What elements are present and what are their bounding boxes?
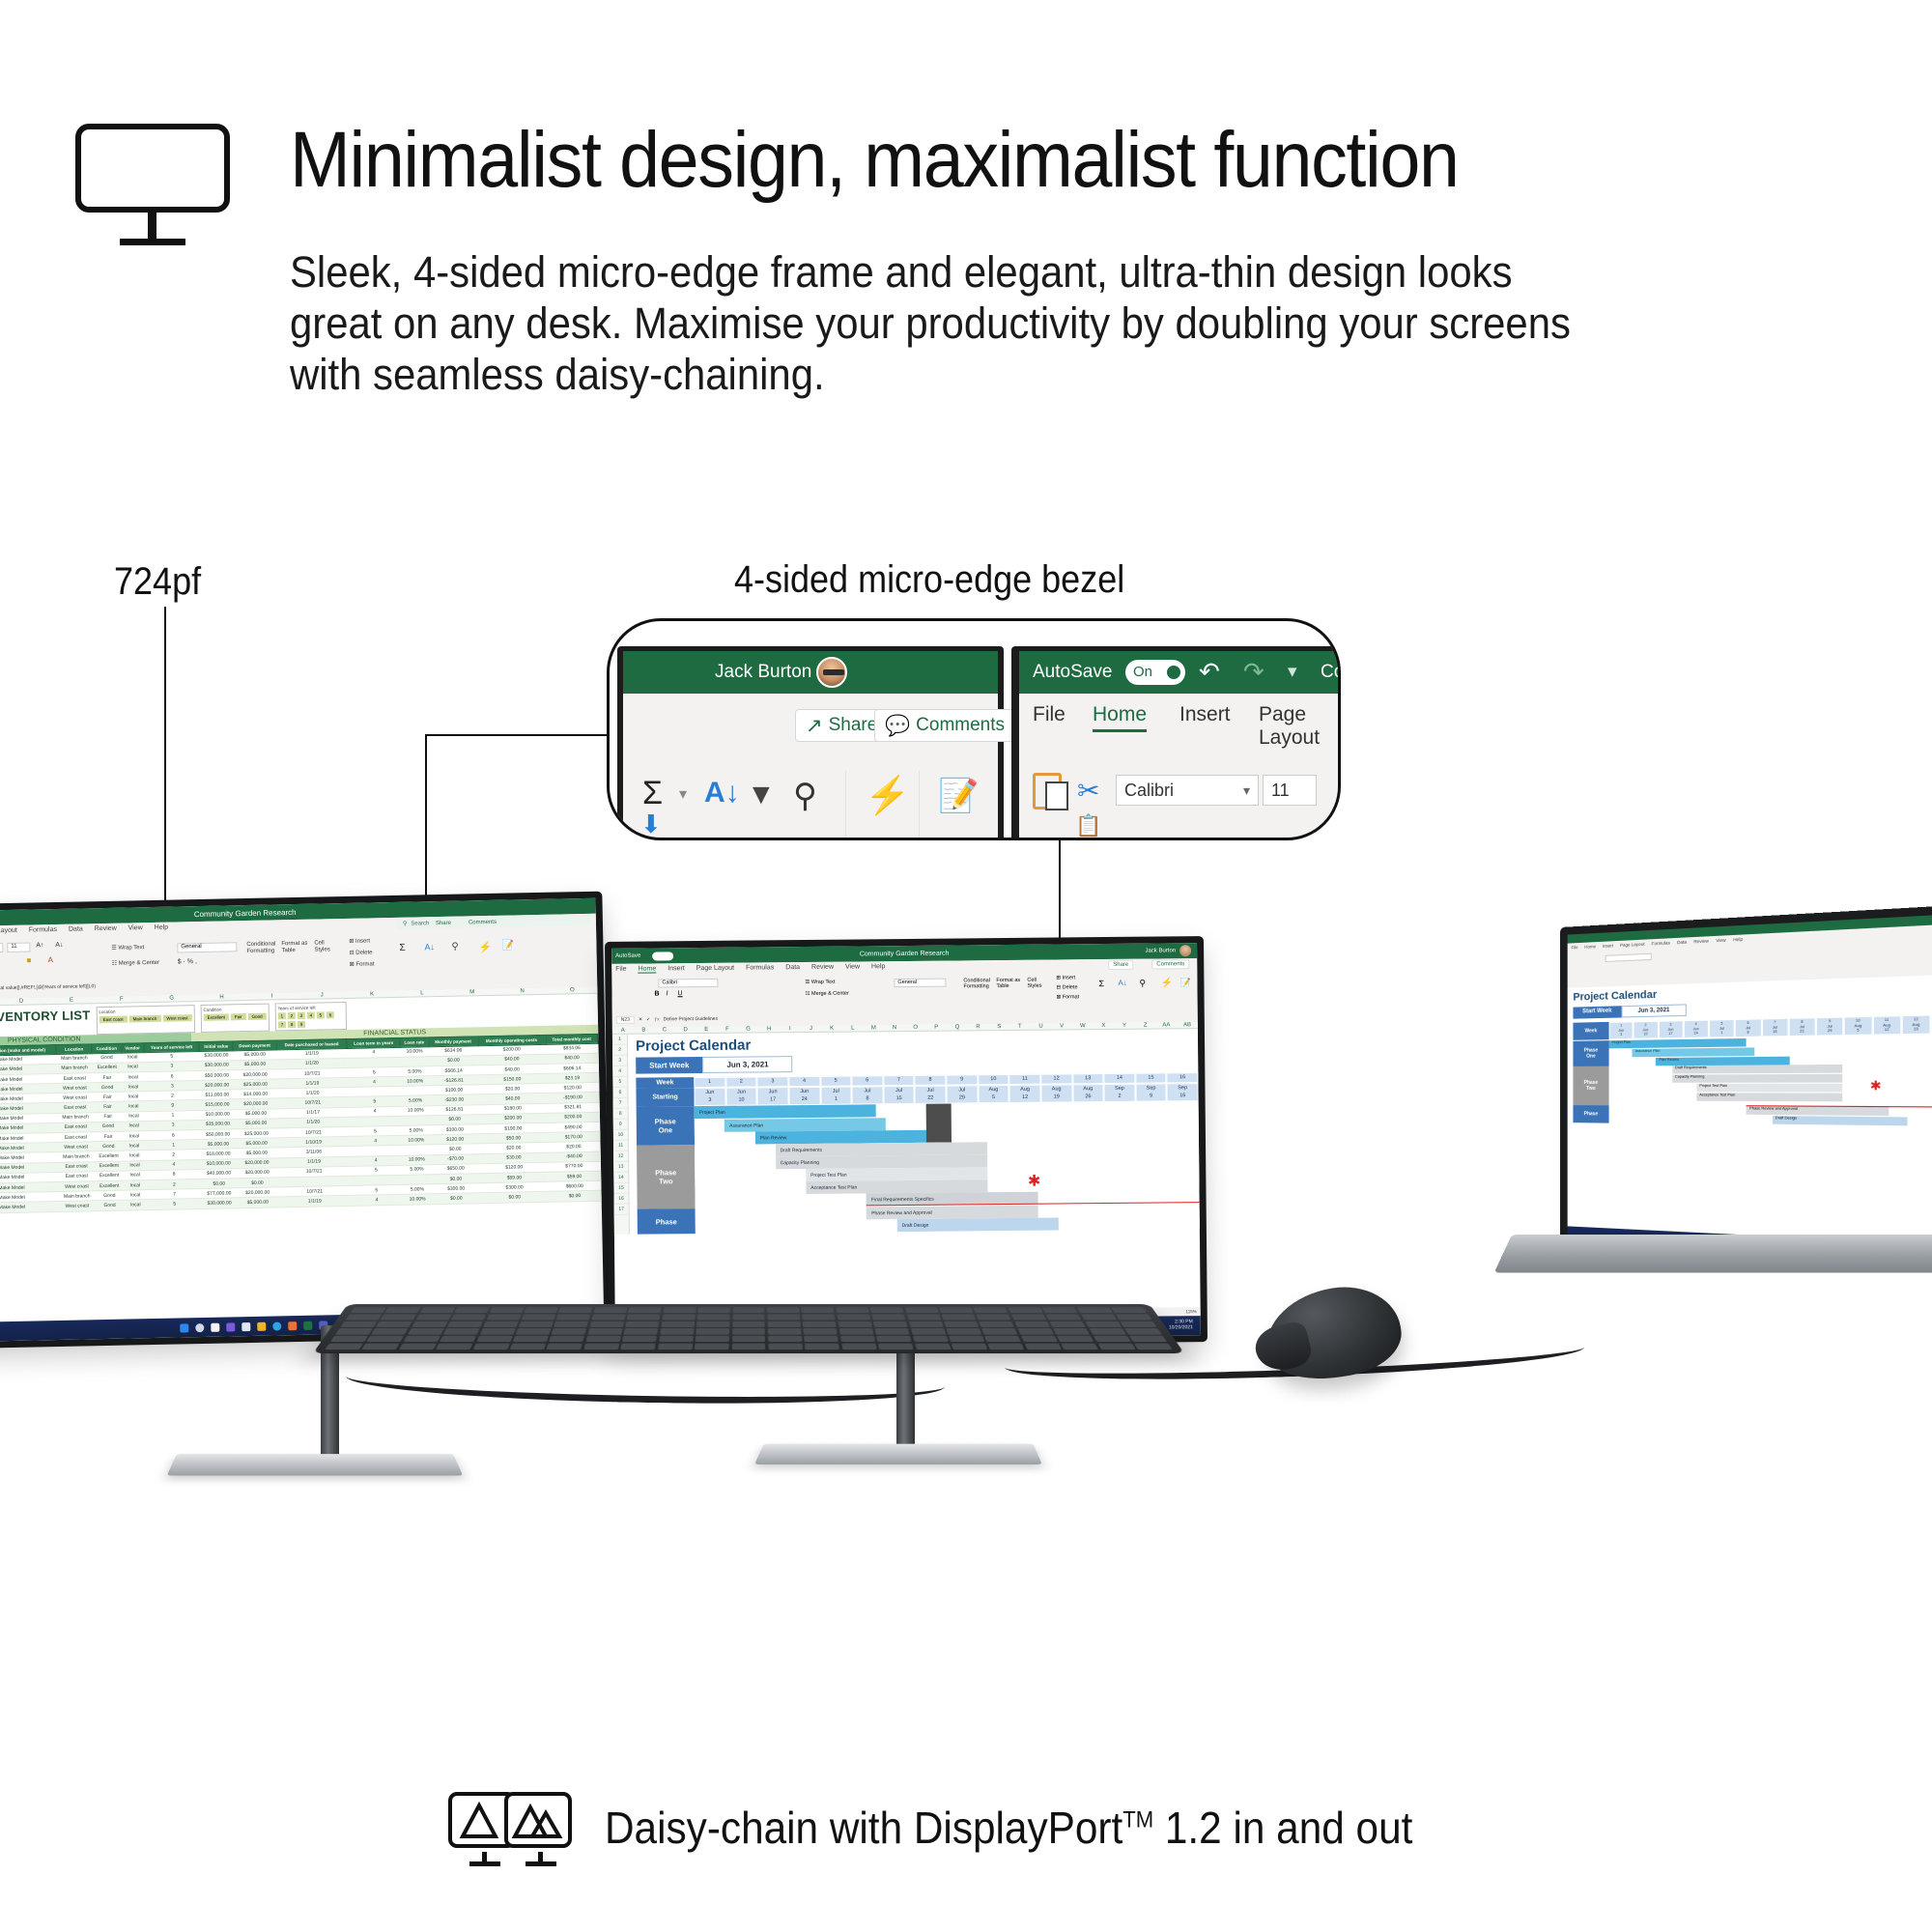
folder-icon[interactable] xyxy=(257,1321,266,1330)
week-number-cell[interactable]: 4 xyxy=(788,1076,820,1088)
comments-button[interactable]: Comments xyxy=(469,920,497,926)
keyboard-key[interactable] xyxy=(340,1321,377,1327)
tab-formulas[interactable]: Formulas xyxy=(746,964,774,972)
slicer-option[interactable]: Good xyxy=(248,1013,267,1020)
keyboard-key[interactable] xyxy=(905,1307,939,1313)
row-header[interactable]: 3 xyxy=(612,1056,627,1066)
keyboard-key[interactable] xyxy=(403,1336,440,1342)
column-header[interactable]: Q xyxy=(947,1024,968,1030)
keyboard-key[interactable] xyxy=(622,1336,657,1342)
sort-filter-icon[interactable]: A↓ xyxy=(1118,979,1126,987)
currency-icon[interactable]: $ · % , xyxy=(178,958,197,965)
slicer-option[interactable]: Excellent xyxy=(204,1013,229,1021)
font-name-select[interactable]: Calibri xyxy=(0,943,3,953)
number-format-select[interactable]: General xyxy=(177,942,237,952)
autosum-icon[interactable]: Σ xyxy=(642,775,663,812)
keyboard-key[interactable] xyxy=(510,1344,547,1350)
week-start-cell[interactable]: Jul29 xyxy=(946,1086,978,1104)
keyboard-key[interactable] xyxy=(836,1307,868,1313)
gantt-bar[interactable]: Phase Review and Approval xyxy=(1747,1106,1889,1116)
fill-color-icon[interactable]: ■ xyxy=(27,955,32,964)
keyboard-key[interactable] xyxy=(549,1336,584,1342)
week-start-cell[interactable]: Jul15 xyxy=(883,1086,915,1104)
sort-filter-icon[interactable]: A↓ xyxy=(424,942,435,952)
keyboard-key[interactable] xyxy=(412,1321,447,1327)
laptop-week-cell[interactable]: 5Jul1 xyxy=(1709,1019,1735,1038)
row-header[interactable]: 7 xyxy=(613,1098,628,1109)
format-cells-button[interactable]: ⊠ Format xyxy=(1057,994,1080,1000)
conditional-formatting-button[interactable]: Conditional Formatting xyxy=(963,978,992,989)
keyboard-key[interactable] xyxy=(486,1314,521,1320)
keyboard-key[interactable] xyxy=(697,1314,730,1320)
keyboard-key[interactable] xyxy=(625,1321,659,1327)
wrap-text-button[interactable]: ☰ Wrap Text xyxy=(111,944,144,952)
keyboard-key[interactable] xyxy=(627,1314,661,1320)
tab-formulas[interactable]: Formulas xyxy=(29,926,57,935)
tab-review[interactable]: Review xyxy=(811,964,834,972)
gantt-bar[interactable]: Project Test Plan xyxy=(1696,1084,1842,1093)
table-cell[interactable]: $10,000.00 xyxy=(201,1109,235,1120)
file-explorer-icon[interactable] xyxy=(211,1322,219,1331)
laptop-week-cell[interactable]: 10Aug5 xyxy=(1844,1016,1872,1036)
keyboard-key[interactable] xyxy=(838,1321,871,1327)
table-cell[interactable]: 5.00% xyxy=(403,1184,432,1195)
redo-icon[interactable]: ↷ xyxy=(1243,657,1264,687)
table-cell[interactable]: Excellent xyxy=(95,1180,125,1191)
font-size-select[interactable]: 11 xyxy=(7,943,30,952)
slicer-option[interactable]: 6 xyxy=(327,1011,335,1018)
keyboard-key[interactable] xyxy=(591,1314,625,1320)
laptop-start-week-value[interactable]: Jun 3, 2021 xyxy=(1621,1004,1687,1017)
column-header[interactable]: F xyxy=(717,1027,738,1033)
slicer-option[interactable]: East coast xyxy=(99,1016,128,1024)
sensitivity-icon[interactable]: 📝 xyxy=(1179,978,1190,988)
excel-icon[interactable] xyxy=(303,1321,312,1329)
tab-data[interactable]: Data xyxy=(1677,940,1687,946)
keyboard-key[interactable] xyxy=(1120,1321,1156,1327)
merge-center-button[interactable]: ☷ Merge & Center xyxy=(805,991,848,997)
sort-filter-icon[interactable]: A↓ xyxy=(704,777,740,810)
laptop-week-cell[interactable]: 8Jul22 xyxy=(1788,1017,1815,1037)
column-header[interactable]: V xyxy=(1051,1023,1072,1029)
table-cell[interactable]: local xyxy=(123,1141,145,1151)
keyboard-key[interactable] xyxy=(732,1314,765,1320)
table-cell[interactable]: Fair xyxy=(93,1092,123,1102)
table-cell[interactable]: $15,000.00 xyxy=(200,1099,234,1110)
column-header[interactable]: H xyxy=(758,1026,780,1032)
column-header[interactable]: C xyxy=(654,1027,675,1033)
tab-formulas[interactable]: Formulas xyxy=(1652,940,1670,946)
avatar[interactable] xyxy=(1179,945,1191,956)
keyboard-key[interactable] xyxy=(593,1307,627,1313)
keyboard-key[interactable] xyxy=(325,1344,363,1350)
tab-insert[interactable]: Insert xyxy=(1603,943,1613,949)
format-cells-button[interactable]: ⊠ Format xyxy=(350,960,375,968)
edge-icon[interactable] xyxy=(272,1321,281,1330)
table-cell[interactable]: 5.00% xyxy=(402,1125,431,1136)
paste-clipboard-icon[interactable] xyxy=(1033,773,1062,810)
keyboard-key[interactable] xyxy=(870,1307,904,1313)
keyboard-key[interactable] xyxy=(805,1344,839,1350)
keyboard-key[interactable] xyxy=(841,1344,877,1350)
column-header[interactable]: I xyxy=(780,1026,801,1032)
keyboard-key[interactable] xyxy=(372,1328,409,1334)
keyboard-key[interactable] xyxy=(1021,1336,1058,1342)
format-as-table-button[interactable]: Format as Table xyxy=(281,941,310,954)
table-cell[interactable]: $50,000.00 xyxy=(201,1129,235,1140)
table-cell[interactable]: $10,000.00 xyxy=(202,1158,236,1169)
keyboard-key[interactable] xyxy=(946,1328,981,1334)
delete-cells-button[interactable]: ⊟ Delete xyxy=(349,949,372,955)
keyboard-key[interactable] xyxy=(910,1328,945,1334)
table-cell[interactable]: Good xyxy=(94,1141,124,1151)
column-header[interactable]: B xyxy=(633,1027,654,1033)
column-header[interactable]: O xyxy=(547,987,597,994)
table-cell[interactable]: Main branch xyxy=(58,1112,94,1122)
table-cell[interactable]: local xyxy=(124,1180,146,1191)
cell-styles-button[interactable]: Cell Styles xyxy=(1027,978,1048,989)
table-cell[interactable]: local xyxy=(125,1190,147,1201)
table-cell[interactable]: East coast xyxy=(57,1102,93,1113)
keyboard-key[interactable] xyxy=(455,1307,490,1313)
search-icon[interactable] xyxy=(195,1322,204,1331)
number-format-select[interactable]: General xyxy=(894,979,946,988)
keyboard-key[interactable] xyxy=(524,1307,557,1313)
keyboard-key[interactable] xyxy=(589,1321,624,1327)
table-cell[interactable] xyxy=(402,1116,431,1126)
avatar[interactable] xyxy=(816,657,847,688)
keyboard-key[interactable] xyxy=(552,1328,586,1334)
keyboard-key[interactable] xyxy=(803,1321,837,1327)
chevron-down-icon[interactable]: ▾ xyxy=(679,784,687,804)
keyboard-key[interactable] xyxy=(767,1314,800,1320)
name-box[interactable]: N23 xyxy=(616,1016,635,1024)
week-start-cell[interactable]: Aug19 xyxy=(1040,1085,1072,1103)
column-header[interactable]: X xyxy=(1094,1023,1115,1029)
laptop-week-cell[interactable]: 7Jul15 xyxy=(1761,1018,1788,1037)
font-color-icon[interactable]: A xyxy=(48,955,54,964)
row-header[interactable]: 14 xyxy=(613,1173,628,1183)
table-cell[interactable]: local xyxy=(122,1062,144,1072)
column-header[interactable]: L xyxy=(397,990,447,997)
table-cell[interactable]: Excellent xyxy=(95,1171,125,1181)
keyboard-keys[interactable] xyxy=(325,1307,1173,1350)
wrap-text-button[interactable]: ☰ Wrap Text xyxy=(805,980,835,985)
keyboard-key[interactable] xyxy=(447,1321,483,1327)
row-header[interactable]: 17 xyxy=(614,1205,629,1215)
laptop-week-cell[interactable]: 9Jul29 xyxy=(1816,1016,1844,1036)
keyboard-key[interactable] xyxy=(661,1321,695,1327)
col-vendor[interactable]: Vendor xyxy=(121,1042,143,1053)
copy-icon[interactable]: 📋 xyxy=(1075,813,1101,838)
tab-review[interactable]: Review xyxy=(95,925,117,933)
keyboard-key[interactable] xyxy=(767,1307,800,1313)
find-select-icon[interactable]: ⚲ xyxy=(451,942,459,952)
table-cell[interactable]: $40,000.00 xyxy=(202,1169,236,1179)
keyboard-key[interactable] xyxy=(873,1321,908,1327)
table-cell[interactable]: $0.00 xyxy=(432,1193,481,1204)
column-header[interactable]: K xyxy=(821,1026,842,1032)
keyboard-key[interactable] xyxy=(1024,1344,1062,1350)
week-start-cell[interactable]: Jul22 xyxy=(915,1086,947,1104)
font-name-select[interactable]: Calibri ▾ xyxy=(1116,775,1259,806)
tab-file[interactable]: File xyxy=(1033,703,1065,726)
slicer-option[interactable]: 7 xyxy=(278,1021,287,1028)
keyboard-key[interactable] xyxy=(376,1321,412,1327)
keyboard-key[interactable] xyxy=(974,1307,1009,1313)
undo-icon[interactable]: ↶ xyxy=(1199,657,1220,687)
column-header[interactable]: N xyxy=(884,1025,905,1031)
gantt-bar[interactable]: Assurance Plan xyxy=(1633,1047,1755,1057)
slicer-location[interactable]: Location East coast Main branch West coa… xyxy=(96,1005,195,1035)
week-start-cell[interactable]: Aug12 xyxy=(1009,1085,1041,1103)
slicer-option[interactable]: Fair xyxy=(231,1013,246,1020)
column-header[interactable]: J xyxy=(297,992,347,999)
keyboard-key[interactable] xyxy=(335,1328,373,1334)
keyboard-key[interactable] xyxy=(483,1321,519,1327)
column-header[interactable]: AA xyxy=(1155,1022,1177,1028)
table-cell[interactable]: local xyxy=(122,1052,144,1063)
column-header[interactable]: L xyxy=(842,1025,864,1031)
column-header[interactable]: I xyxy=(246,993,297,1000)
keyboard-key[interactable] xyxy=(443,1328,480,1334)
keyboard-key[interactable] xyxy=(696,1328,729,1334)
keyboard-key[interactable] xyxy=(1134,1344,1173,1350)
table-cell[interactable]: local xyxy=(124,1160,146,1171)
decrease-font-icon[interactable]: A↓ xyxy=(55,942,63,949)
table-cell[interactable]: Fair xyxy=(93,1072,123,1083)
tab-insert[interactable]: Insert xyxy=(1179,703,1231,726)
keyboard-key[interactable] xyxy=(696,1321,729,1327)
row-header[interactable]: 15 xyxy=(613,1183,628,1194)
gantt-bar[interactable]: Project Plan xyxy=(1609,1038,1747,1048)
keyboard-key[interactable] xyxy=(697,1307,730,1313)
find-select-icon[interactable]: ⚲ xyxy=(793,777,817,815)
slicer-option[interactable]: 2 xyxy=(288,1012,297,1019)
gantt-bar[interactable]: Draft Requirements xyxy=(1672,1065,1843,1074)
keyboard-key[interactable] xyxy=(1014,1321,1050,1327)
week-number-cell[interactable]: 14 xyxy=(1103,1073,1135,1085)
keyboard-key[interactable] xyxy=(519,1321,554,1327)
keyboard-key[interactable] xyxy=(732,1321,765,1327)
week-start-cell[interactable]: Jul1 xyxy=(820,1087,852,1105)
font-size-select[interactable]: 11 xyxy=(1263,775,1317,806)
col-condition[interactable]: Condition xyxy=(92,1043,122,1054)
slicer-option[interactable]: 1 xyxy=(278,1012,287,1019)
mail-icon[interactable] xyxy=(241,1322,250,1331)
tab-data[interactable]: Data xyxy=(785,964,800,972)
keyboard-key[interactable] xyxy=(585,1336,620,1342)
table-cell[interactable] xyxy=(402,1145,431,1155)
ideas-icon[interactable]: ⚡ xyxy=(1160,978,1173,988)
gantt-bar[interactable]: Project Plan xyxy=(695,1105,876,1120)
underline-button[interactable]: U xyxy=(677,990,682,997)
table-cell[interactable]: local xyxy=(122,1092,144,1102)
table-cell[interactable]: $0.00 xyxy=(202,1179,236,1189)
share-button[interactable]: Share xyxy=(436,921,451,926)
tab-page-layout[interactable]: Page Layout xyxy=(1620,942,1644,948)
keyboard-key[interactable] xyxy=(1077,1307,1113,1313)
keyboard-key[interactable] xyxy=(385,1307,421,1313)
cancel-icon[interactable]: ✕ xyxy=(639,1017,642,1023)
keyboard-key[interactable] xyxy=(554,1321,589,1327)
column-header[interactable]: N xyxy=(497,988,548,995)
keyboard-key[interactable] xyxy=(476,1336,513,1342)
keyboard-key[interactable] xyxy=(695,1344,729,1350)
keyboard-key[interactable] xyxy=(915,1344,951,1350)
keyboard-key[interactable] xyxy=(731,1336,765,1342)
font-name-select[interactable]: Calibri xyxy=(658,979,718,988)
keyboard-key[interactable] xyxy=(351,1307,386,1313)
week-number-cell[interactable]: 6 xyxy=(851,1075,883,1087)
keyboard-key[interactable] xyxy=(802,1314,835,1320)
table-cell[interactable]: $5,000.00 xyxy=(236,1197,279,1207)
tab-page-layout[interactable]: Page Layout xyxy=(0,927,17,936)
keyboard-key[interactable] xyxy=(906,1314,940,1320)
column-header[interactable]: H xyxy=(197,994,247,1001)
column-header[interactable]: U xyxy=(1031,1024,1052,1030)
keyboard-key[interactable] xyxy=(952,1344,988,1350)
table-cell[interactable]: 4 xyxy=(351,1195,404,1206)
keyboard-key[interactable] xyxy=(362,1344,400,1350)
keyboard-key[interactable] xyxy=(628,1307,661,1313)
zoom-level[interactable]: 115% xyxy=(1185,1309,1196,1314)
column-header[interactable]: E xyxy=(46,997,97,1004)
formula-bar[interactable]: N23 ✕ ✓ ƒx Define Project Guidelines xyxy=(616,1010,1196,1024)
table-cell[interactable]: West coast xyxy=(59,1181,95,1192)
keyboard-key[interactable] xyxy=(908,1321,943,1327)
autosum-icon[interactable]: Σ xyxy=(1098,979,1104,988)
table-cell[interactable] xyxy=(403,1175,432,1185)
teams-icon[interactable] xyxy=(226,1322,235,1331)
gantt-bar[interactable]: Draft Design xyxy=(897,1218,1059,1233)
week-start-cell[interactable]: Jun3 xyxy=(694,1088,725,1106)
confirm-icon[interactable]: ✓ xyxy=(646,1017,650,1023)
row-header[interactable]: 5 xyxy=(612,1077,627,1088)
system-clock[interactable]: 2:30 PM 10/20/2021 xyxy=(1169,1319,1193,1331)
column-header[interactable]: M xyxy=(864,1025,885,1031)
column-header[interactable]: G xyxy=(147,995,197,1002)
keyboard-key[interactable] xyxy=(558,1307,592,1313)
start-icon[interactable] xyxy=(180,1323,188,1332)
tab-page-layout[interactable]: Page Layout xyxy=(696,965,734,973)
row-header[interactable]: 10 xyxy=(613,1130,628,1141)
conditional-formatting-button[interactable]: Conditional Formatting xyxy=(246,941,279,954)
table-cell[interactable]: 10.00% xyxy=(400,1046,429,1057)
keyboard-key[interactable] xyxy=(1124,1328,1162,1334)
table-cell[interactable]: West coast xyxy=(59,1201,95,1211)
keyboard-key[interactable] xyxy=(662,1314,695,1320)
slicer-option[interactable]: 9 xyxy=(298,1020,306,1027)
column-header[interactable]: E xyxy=(696,1027,717,1033)
keyboard-key[interactable] xyxy=(587,1328,622,1334)
table-cell[interactable]: $0.00 xyxy=(481,1192,549,1204)
tab-data[interactable]: Data xyxy=(69,925,83,933)
keyboard-key[interactable] xyxy=(871,1314,905,1320)
week-number-cell[interactable]: 13 xyxy=(1072,1073,1104,1085)
keyboard-key[interactable] xyxy=(1057,1336,1094,1342)
autosave-toggle[interactable] xyxy=(652,952,673,960)
keyboard-key[interactable] xyxy=(804,1328,838,1334)
week-number-cell[interactable]: 3 xyxy=(757,1076,789,1088)
column-header[interactable]: S xyxy=(988,1024,1009,1030)
keyboard-key[interactable] xyxy=(620,1344,656,1350)
table-cell[interactable]: local xyxy=(123,1101,145,1112)
keyboard-key[interactable] xyxy=(732,1307,764,1313)
table-cell[interactable]: local xyxy=(125,1200,147,1210)
row-header[interactable]: 13 xyxy=(613,1162,628,1173)
keyboard-key[interactable] xyxy=(1085,1321,1122,1327)
week-start-cell[interactable]: Sep9 xyxy=(1135,1084,1167,1102)
laptop-week-cell[interactable]: 12Aug19 xyxy=(1901,1014,1931,1035)
keyboard-key[interactable] xyxy=(479,1328,515,1334)
keyboard[interactable] xyxy=(313,1304,1184,1353)
keyboard-key[interactable] xyxy=(436,1344,473,1350)
keyboard-key[interactable] xyxy=(547,1344,582,1350)
keyboard-key[interactable] xyxy=(420,1307,455,1313)
keyboard-key[interactable] xyxy=(1081,1314,1117,1320)
keyboard-key[interactable] xyxy=(941,1314,976,1320)
keyboard-key[interactable] xyxy=(330,1336,368,1342)
table-cell[interactable]: 10.00% xyxy=(402,1154,431,1165)
ideas-icon[interactable]: ⚡ xyxy=(865,775,910,817)
keyboard-key[interactable] xyxy=(768,1321,801,1327)
gantt-bar[interactable]: Draft Design xyxy=(1772,1116,1907,1125)
keyboard-key[interactable] xyxy=(731,1344,766,1350)
keyboard-key[interactable] xyxy=(878,1344,914,1350)
table-cell[interactable]: $77,000.00 xyxy=(202,1188,236,1199)
row-header[interactable]: 12 xyxy=(613,1151,628,1162)
table-cell[interactable]: $30,000.00 xyxy=(199,1050,233,1061)
keyboard-key[interactable] xyxy=(660,1328,694,1334)
laptop-week-cell[interactable]: 2Jun10 xyxy=(1634,1021,1659,1039)
keyboard-key[interactable] xyxy=(1008,1307,1042,1313)
table-cell[interactable]: $5,000.00 xyxy=(201,1139,235,1150)
week-number-cell[interactable]: 10 xyxy=(978,1074,1009,1086)
tab-page-layout[interactable]: Page Layout xyxy=(1259,703,1341,750)
table-cell[interactable]: Excellent xyxy=(92,1063,122,1073)
table-cell[interactable]: local xyxy=(123,1122,145,1132)
row-header[interactable]: 2 xyxy=(612,1045,627,1056)
table-cell[interactable]: $20,000.00 xyxy=(200,1080,234,1091)
keyboard-key[interactable] xyxy=(977,1314,1011,1320)
table-cell[interactable]: East coast xyxy=(59,1172,95,1182)
table-cell[interactable]: Make Model xyxy=(0,1202,60,1213)
table-cell[interactable]: Good xyxy=(95,1190,125,1201)
slicer-option[interactable]: 3 xyxy=(298,1012,306,1019)
column-header[interactable]: K xyxy=(347,991,397,998)
cell-styles-button[interactable]: Cell Styles xyxy=(314,940,339,953)
week-number-cell[interactable]: 5 xyxy=(820,1076,852,1088)
function-icon[interactable]: ƒx xyxy=(654,1016,659,1022)
week-start-cell[interactable]: Sep16 xyxy=(1167,1084,1199,1102)
tab-home[interactable]: Home xyxy=(1584,944,1596,950)
keyboard-key[interactable] xyxy=(440,1336,476,1342)
table-cell[interactable]: Excellent xyxy=(94,1151,124,1162)
bold-button[interactable]: B xyxy=(654,990,659,997)
table-cell[interactable]: $0.00 xyxy=(549,1191,602,1202)
laptop-week-cell[interactable]: 4Jun24 xyxy=(1683,1020,1709,1038)
column-header[interactable]: G xyxy=(738,1026,759,1032)
ideas-icon[interactable]: ⚡ xyxy=(478,941,492,953)
tab-help[interactable]: Help xyxy=(871,963,885,971)
keyboard-key[interactable] xyxy=(381,1314,416,1320)
laptop-week-cell[interactable]: 1Jun3 xyxy=(1609,1021,1634,1039)
keyboard-key[interactable] xyxy=(1094,1336,1131,1342)
keyboard-key[interactable] xyxy=(984,1336,1021,1342)
keyboard-key[interactable] xyxy=(1097,1344,1135,1350)
week-start-cell[interactable]: Jun24 xyxy=(788,1087,820,1105)
